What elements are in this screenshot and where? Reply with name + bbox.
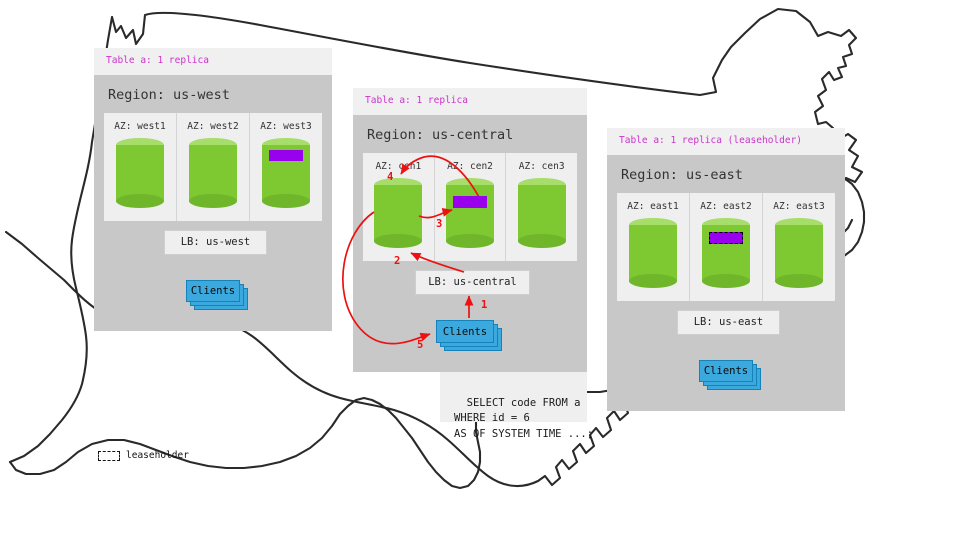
clients-label-us-central: Clients: [443, 326, 487, 338]
az-label-east3: AZ: east3: [763, 201, 835, 212]
clients-us-west[interactable]: Clients: [186, 280, 248, 310]
cylinder-bottom: [629, 274, 677, 288]
az-label-cen1: AZ: cen1: [363, 161, 434, 172]
cylinder-body: [518, 185, 566, 241]
clients-us-east[interactable]: Clients: [699, 360, 761, 390]
az-cell-west3[interactable]: AZ: west3: [250, 113, 322, 221]
lb-label-us-east: LB: us-east: [694, 317, 764, 328]
az-cell-east2[interactable]: AZ: east2: [690, 193, 763, 301]
replica-block-west3[interactable]: [269, 150, 303, 161]
region-panel-us-central: Table a: 1 replica Region: us-central AZ…: [353, 88, 587, 372]
az-label-east2: AZ: east2: [690, 201, 762, 212]
node-cylinder-cen2[interactable]: [446, 178, 494, 248]
az-cell-west1[interactable]: AZ: west1: [104, 113, 177, 221]
az-cell-cen3[interactable]: AZ: cen3: [506, 153, 577, 261]
region-title-us-west: Region: us-west: [94, 75, 332, 113]
az-label-east1: AZ: east1: [617, 201, 689, 212]
lb-box-us-east[interactable]: LB: us-east: [677, 310, 780, 335]
clients-label-us-west: Clients: [191, 285, 235, 297]
replica-block-cen2[interactable]: [453, 196, 487, 208]
node-cylinder-cen3[interactable]: [518, 178, 566, 248]
sql-query-box: SELECT code FROM a WHERE id = 6 AS OF SY…: [440, 372, 587, 422]
node-cylinder-west1[interactable]: [116, 138, 164, 208]
region-title-us-central: Region: us-central: [353, 115, 587, 153]
cylinder-body: [116, 145, 164, 201]
az-cell-west2[interactable]: AZ: west2: [177, 113, 250, 221]
cylinder-bottom: [262, 194, 310, 208]
cylinder-body: [374, 185, 422, 241]
lb-box-us-central[interactable]: LB: us-central: [415, 270, 530, 295]
az-label-cen2: AZ: cen2: [435, 161, 506, 172]
cylinder-body: [189, 145, 237, 201]
az-label-west3: AZ: west3: [250, 121, 322, 132]
az-label-west1: AZ: west1: [104, 121, 176, 132]
az-row-us-east: AZ: east1 AZ: east2 AZ: east3: [617, 193, 835, 301]
lb-label-us-central: LB: us-central: [428, 277, 517, 288]
node-cylinder-east1[interactable]: [629, 218, 677, 288]
legend-leaseholder: leaseholder: [98, 450, 189, 461]
region-title-us-east: Region: us-east: [607, 155, 845, 193]
az-row-us-west: AZ: west1 AZ: west2 AZ: west3: [104, 113, 322, 221]
az-cell-east3[interactable]: AZ: east3: [763, 193, 835, 301]
node-cylinder-east3[interactable]: [775, 218, 823, 288]
cylinder-bottom: [775, 274, 823, 288]
lb-label-us-west: LB: us-west: [181, 237, 251, 248]
az-row-us-central: AZ: cen1 AZ: cen2 AZ: cen3: [363, 153, 577, 261]
cylinder-bottom: [116, 194, 164, 208]
table-header-us-west: Table a: 1 replica: [94, 48, 332, 75]
legend-label: leaseholder: [126, 450, 189, 461]
node-cylinder-west3[interactable]: [262, 138, 310, 208]
region-panel-us-west: Table a: 1 replica Region: us-west AZ: w…: [94, 48, 332, 331]
leaseholder-swatch-icon: [98, 451, 120, 461]
az-label-cen3: AZ: cen3: [506, 161, 577, 172]
cylinder-bottom: [702, 274, 750, 288]
clients-label-us-east: Clients: [704, 365, 748, 377]
table-header-us-central: Table a: 1 replica: [353, 88, 587, 115]
cylinder-body: [629, 225, 677, 281]
region-panel-us-east: Table a: 1 replica (leaseholder) Region:…: [607, 128, 845, 411]
node-cylinder-cen1[interactable]: [374, 178, 422, 248]
az-cell-cen2[interactable]: AZ: cen2: [435, 153, 507, 261]
cylinder-bottom: [446, 234, 494, 248]
clients-front-us-east[interactable]: Clients: [699, 360, 753, 382]
az-cell-cen1[interactable]: AZ: cen1: [363, 153, 435, 261]
table-header-us-east: Table a: 1 replica (leaseholder): [607, 128, 845, 155]
az-cell-east1[interactable]: AZ: east1: [617, 193, 690, 301]
clients-us-central[interactable]: Clients: [436, 320, 504, 352]
clients-front-us-west[interactable]: Clients: [186, 280, 240, 302]
node-cylinder-west2[interactable]: [189, 138, 237, 208]
cylinder-body: [446, 185, 494, 241]
sql-query-text: SELECT code FROM a WHERE id = 6 AS OF SY…: [454, 397, 593, 439]
clients-front-us-central[interactable]: Clients: [436, 320, 494, 343]
cylinder-bottom: [518, 234, 566, 248]
cylinder-body: [775, 225, 823, 281]
az-label-west2: AZ: west2: [177, 121, 249, 132]
lb-box-us-west[interactable]: LB: us-west: [164, 230, 267, 255]
replica-block-east2-leaseholder[interactable]: [709, 232, 743, 244]
cylinder-bottom: [374, 234, 422, 248]
node-cylinder-east2[interactable]: [702, 218, 750, 288]
cylinder-bottom: [189, 194, 237, 208]
